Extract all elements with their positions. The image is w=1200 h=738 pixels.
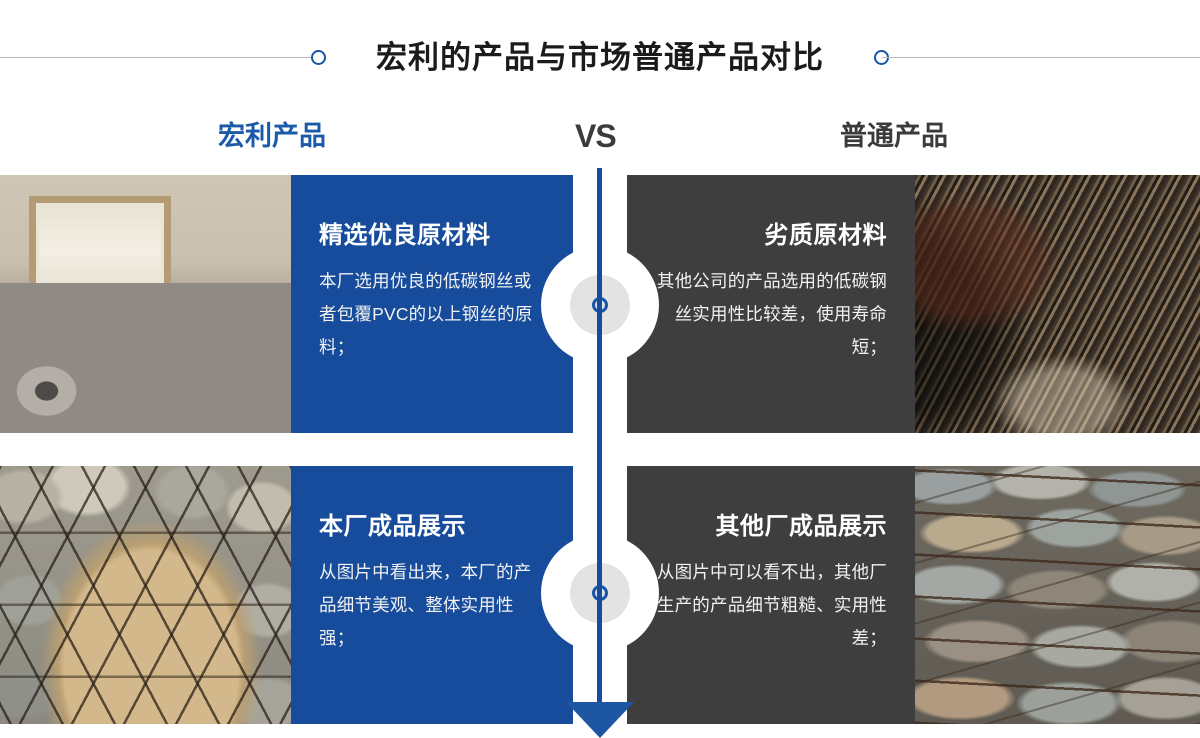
panel-title: 本厂成品展示	[319, 512, 545, 542]
panel-title: 劣质原材料	[655, 221, 887, 251]
photo-our-material	[0, 175, 291, 433]
panel-ordinary-product: 其他厂成品展示 从图片中可以看不出，其他厂生产的产品细节粗糙、实用性差；	[627, 466, 915, 724]
panel-body: 从图片中可以看不出，其他厂生产的产品细节粗糙、实用性差；	[655, 556, 887, 655]
down-triangle-icon	[566, 702, 634, 738]
photo-ordinary-material	[915, 175, 1200, 433]
panel-title: 精选优良原材料	[319, 221, 545, 251]
panel-our-product: 本厂成品展示 从图片中看出来，本厂的产品细节美观、整体实用性强；	[291, 466, 573, 724]
header-vs-label: VS	[575, 112, 616, 160]
panel-title: 其他厂成品展示	[655, 512, 887, 542]
panel-our-material: 精选优良原材料 本厂选用优良的低碳钢丝或者包覆PVC的以上钢丝的原料；	[291, 175, 573, 433]
node-line-segment	[597, 246, 602, 364]
spine-node-2	[541, 534, 659, 652]
page-title: 宏利的产品与市场普通产品对比	[0, 28, 1200, 88]
photo-ordinary-product	[915, 466, 1200, 724]
node-line-segment	[597, 534, 602, 652]
panel-body: 其他公司的产品选用的低碳钢丝实用性比较差，使用寿命短；	[655, 265, 887, 364]
column-headers: 宏利产品 VS 普通产品	[0, 112, 1200, 168]
wire-coils-photo	[0, 175, 291, 433]
comparison-infographic: 宏利的产品与市场普通产品对比 宏利产品 VS 普通产品 精选优良原材料 本厂选用…	[0, 0, 1200, 738]
photo-our-product	[0, 466, 291, 724]
title-rule-right	[882, 57, 1200, 58]
panel-ordinary-material: 劣质原材料 其他公司的产品选用的低碳钢丝实用性比较差，使用寿命短；	[627, 175, 915, 433]
panel-body: 从图片中看出来，本厂的产品细节美观、整体实用性强；	[319, 556, 543, 655]
panel-body: 本厂选用优良的低碳钢丝或者包覆PVC的以上钢丝的原料；	[319, 265, 543, 364]
header-ordinary-product: 普通产品	[840, 112, 948, 160]
dark-wire-coil-photo	[915, 175, 1200, 433]
header-our-product: 宏利产品	[218, 112, 326, 160]
title-band: 宏利的产品与市场普通产品对比	[0, 28, 1200, 88]
gabion-wall-photo	[915, 466, 1200, 724]
gabion-boulder-photo	[0, 466, 291, 724]
spine-node-1	[541, 246, 659, 364]
